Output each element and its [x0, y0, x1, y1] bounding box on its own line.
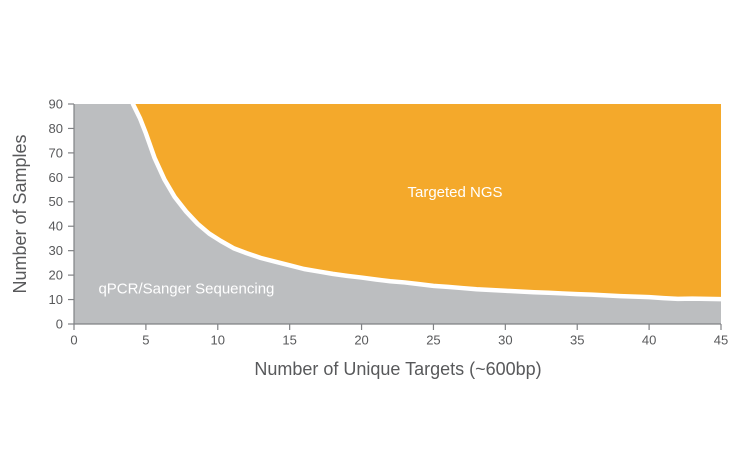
x-tick-label: 10 [211, 333, 225, 348]
x-tick-label: 0 [70, 333, 77, 348]
area-chart-figure: 0102030405060708090 051015202530354045 N… [0, 0, 736, 475]
x-tick-label: 30 [498, 333, 512, 348]
x-tick-label: 20 [354, 333, 368, 348]
x-tick-label: 45 [714, 333, 728, 348]
y-tick-label: 0 [56, 316, 63, 331]
y-tick-label: 20 [49, 268, 63, 283]
y-tick-label: 70 [49, 145, 63, 160]
y-tick-label: 10 [49, 292, 63, 307]
x-tick-label: 40 [642, 333, 656, 348]
y-tick-label: 40 [49, 219, 63, 234]
y-tick-label: 90 [49, 96, 63, 111]
x-axis-ticks: 051015202530354045 [70, 324, 728, 348]
x-tick-label: 25 [426, 333, 440, 348]
series-label-qpcr-sanger: qPCR/Sanger Sequencing [98, 280, 274, 297]
x-tick-label: 15 [282, 333, 296, 348]
y-tick-label: 30 [49, 243, 63, 258]
chart-page: 0102030405060708090 051015202530354045 N… [0, 0, 736, 475]
y-axis-title: Number of Samples [10, 134, 30, 293]
x-tick-label: 5 [142, 333, 149, 348]
y-tick-label: 80 [49, 121, 63, 136]
series-label-targeted-ngs: Targeted NGS [407, 184, 502, 201]
x-axis-title: Number of Unique Targets (~600bp) [254, 359, 541, 379]
y-tick-label: 60 [49, 170, 63, 185]
chart-canvas: 0102030405060708090 051015202530354045 N… [0, 0, 736, 475]
y-tick-label: 50 [49, 194, 63, 209]
x-tick-label: 35 [570, 333, 584, 348]
y-axis-ticks: 0102030405060708090 [49, 96, 74, 331]
